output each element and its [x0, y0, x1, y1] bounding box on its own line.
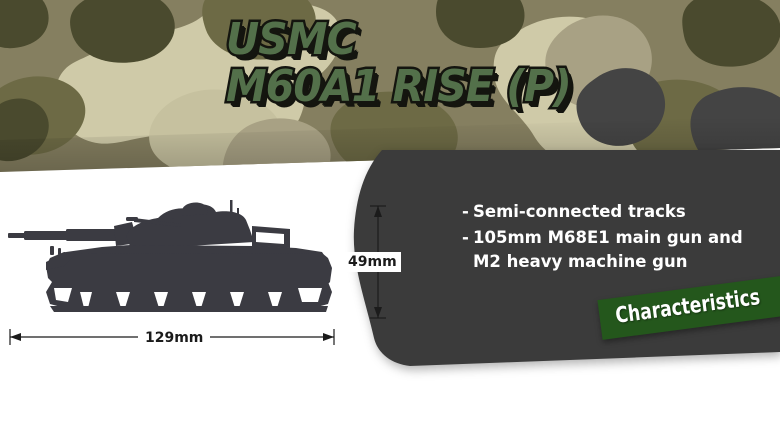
- characteristics-bullet-list: - Semi-connected tracks - 105mm M68E1 ma…: [462, 200, 762, 276]
- list-item: - 105mm M68E1 main gun and M2 heavy mach…: [462, 226, 762, 274]
- list-item-label: 105mm M68E1 main gun and M2 heavy machin…: [473, 226, 743, 274]
- dimension-width: 129mm: [4, 326, 340, 352]
- bullet-dash-icon: -: [462, 226, 473, 250]
- list-item: - Semi-connected tracks: [462, 200, 762, 224]
- dimension-width-label: 129mm: [138, 330, 210, 346]
- tank-side-profile-graphic: [6, 196, 336, 318]
- infographic-canvas: USMC M60A1 RISE (P) - Semi-connected tra…: [0, 0, 780, 432]
- tank-silhouette: [6, 196, 336, 318]
- dimension-height-label: 49mm: [344, 252, 401, 272]
- list-item-label: Semi-connected tracks: [473, 200, 686, 224]
- bullet-dash-icon: -: [462, 200, 473, 224]
- dimension-height: 49mm: [338, 200, 422, 324]
